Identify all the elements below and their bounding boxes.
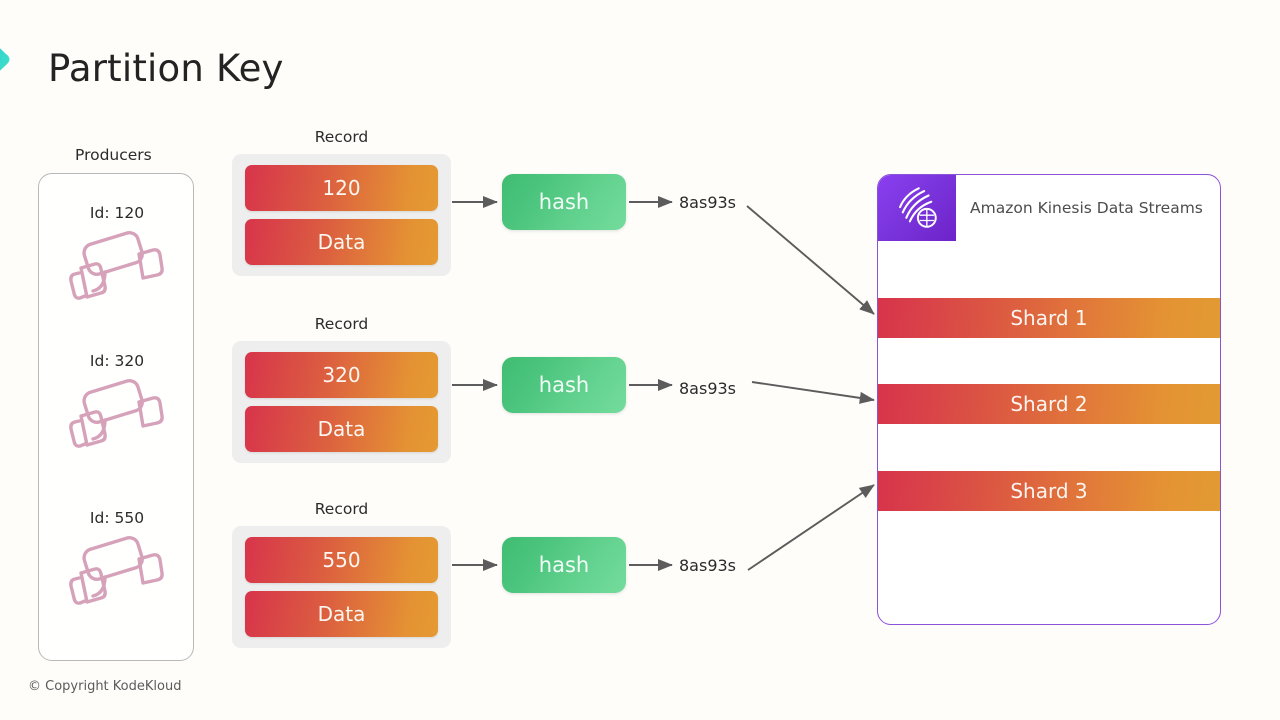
- hash-output-label: 8as93s: [679, 379, 736, 398]
- arrow-output-to-shard-3: [748, 485, 874, 570]
- shard-bar-2: Shard 2: [878, 384, 1220, 424]
- security-camera-icon: [65, 228, 169, 306]
- brand-chevron-logo: [0, 6, 36, 110]
- record-group: Record 120 Data: [232, 128, 451, 276]
- producer-item: Id: 320: [39, 352, 195, 458]
- kinesis-data-streams-panel: Amazon Kinesis Data Streams Shard 1 Shar…: [877, 174, 1221, 625]
- security-camera-icon: [65, 533, 169, 611]
- producer-id-label: Id: 550: [39, 509, 195, 527]
- hash-output-label: 8as93s: [679, 193, 736, 212]
- record-box: 550 Data: [232, 526, 451, 648]
- producers-panel: Id: 120 Id: 320: [38, 173, 194, 661]
- page-title: Partition Key: [48, 50, 284, 87]
- record-caption: Record: [232, 315, 451, 333]
- arrow-output-to-shard-2: [752, 382, 874, 400]
- hash-function-box: hash: [502, 537, 626, 593]
- partition-key-bar: 550: [245, 537, 438, 583]
- hash-function-box: hash: [502, 174, 626, 230]
- hash-output-label: 8as93s: [679, 556, 736, 575]
- record-data-bar: Data: [245, 219, 438, 265]
- security-camera-icon: [65, 376, 169, 454]
- producer-item: Id: 120: [39, 204, 195, 310]
- copyright-footer: © Copyright KodeKloud: [28, 679, 181, 694]
- shard-bar-1: Shard 1: [878, 298, 1220, 338]
- partition-key-bar: 120: [245, 165, 438, 211]
- hash-function-box: hash: [502, 357, 626, 413]
- partition-key-bar: 320: [245, 352, 438, 398]
- record-caption: Record: [232, 128, 451, 146]
- record-data-bar: Data: [245, 406, 438, 452]
- record-data-bar: Data: [245, 591, 438, 637]
- record-box: 120 Data: [232, 154, 451, 276]
- record-box: 320 Data: [232, 341, 451, 463]
- producers-label: Producers: [75, 146, 152, 164]
- kinesis-panel-header: Amazon Kinesis Data Streams: [878, 175, 1220, 241]
- producer-item: Id: 550: [39, 509, 195, 615]
- shard-bar-3: Shard 3: [878, 471, 1220, 511]
- kinesis-panel-title: Amazon Kinesis Data Streams: [970, 199, 1203, 217]
- record-group: Record 320 Data: [232, 315, 451, 463]
- aws-kinesis-data-streams-icon: [878, 175, 956, 241]
- arrow-output-to-shard-1: [747, 206, 874, 314]
- producer-id-label: Id: 320: [39, 352, 195, 370]
- record-group: Record 550 Data: [232, 500, 451, 648]
- producer-id-label: Id: 120: [39, 204, 195, 222]
- record-caption: Record: [232, 500, 451, 518]
